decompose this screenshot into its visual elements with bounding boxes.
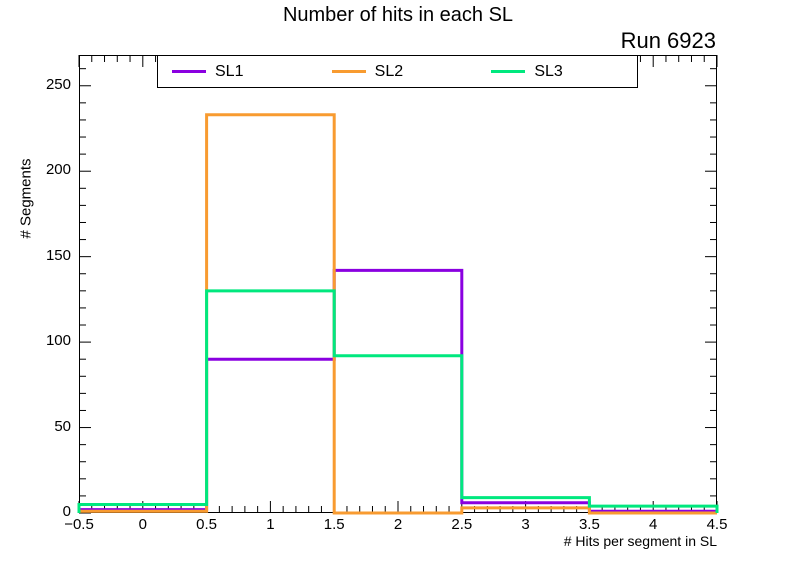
x-tick-label: 1 bbox=[240, 516, 300, 533]
histogram-line-sl2 bbox=[79, 115, 717, 513]
legend-item-sl2[interactable]: SL2 bbox=[318, 56, 478, 87]
legend-swatch-sl2 bbox=[332, 70, 366, 73]
legend-label: SL2 bbox=[375, 63, 403, 81]
y-axis-ticks bbox=[79, 69, 717, 513]
histogram-line-sl1 bbox=[79, 270, 717, 513]
y-tick-label: 200 bbox=[15, 161, 71, 178]
x-tick-label: 3 bbox=[496, 516, 556, 533]
x-tick-label: 3.5 bbox=[559, 516, 619, 533]
x-tick-label: 2.5 bbox=[432, 516, 492, 533]
y-tick-label: 50 bbox=[15, 418, 71, 435]
histogram-line-sl3 bbox=[79, 291, 717, 513]
x-tick-label: 1.5 bbox=[304, 516, 364, 533]
legend-item-sl3[interactable]: SL3 bbox=[477, 56, 637, 87]
y-tick-label: 250 bbox=[15, 76, 71, 93]
legend-label: SL3 bbox=[534, 63, 562, 81]
legend-item-sl1[interactable]: SL1 bbox=[158, 56, 318, 87]
legend-swatch-sl3 bbox=[491, 70, 525, 73]
legend-swatch-sl1 bbox=[172, 70, 206, 73]
x-tick-label: 2 bbox=[368, 516, 428, 533]
x-tick-label: 4 bbox=[623, 516, 683, 533]
x-tick-label: 0.5 bbox=[177, 516, 237, 533]
legend-label: SL1 bbox=[215, 63, 243, 81]
y-tick-label: 150 bbox=[15, 247, 71, 264]
x-tick-label: −0.5 bbox=[49, 516, 109, 533]
x-axis-ticks bbox=[79, 55, 717, 513]
y-tick-label: 100 bbox=[15, 332, 71, 349]
x-tick-label: 4.5 bbox=[687, 516, 747, 533]
x-tick-label: 0 bbox=[113, 516, 173, 533]
legend[interactable]: SL1SL2SL3 bbox=[157, 55, 638, 88]
histogram-series bbox=[79, 115, 717, 513]
plot-canvas: Number of hits in each SL Run 6923 # Seg… bbox=[0, 0, 796, 572]
